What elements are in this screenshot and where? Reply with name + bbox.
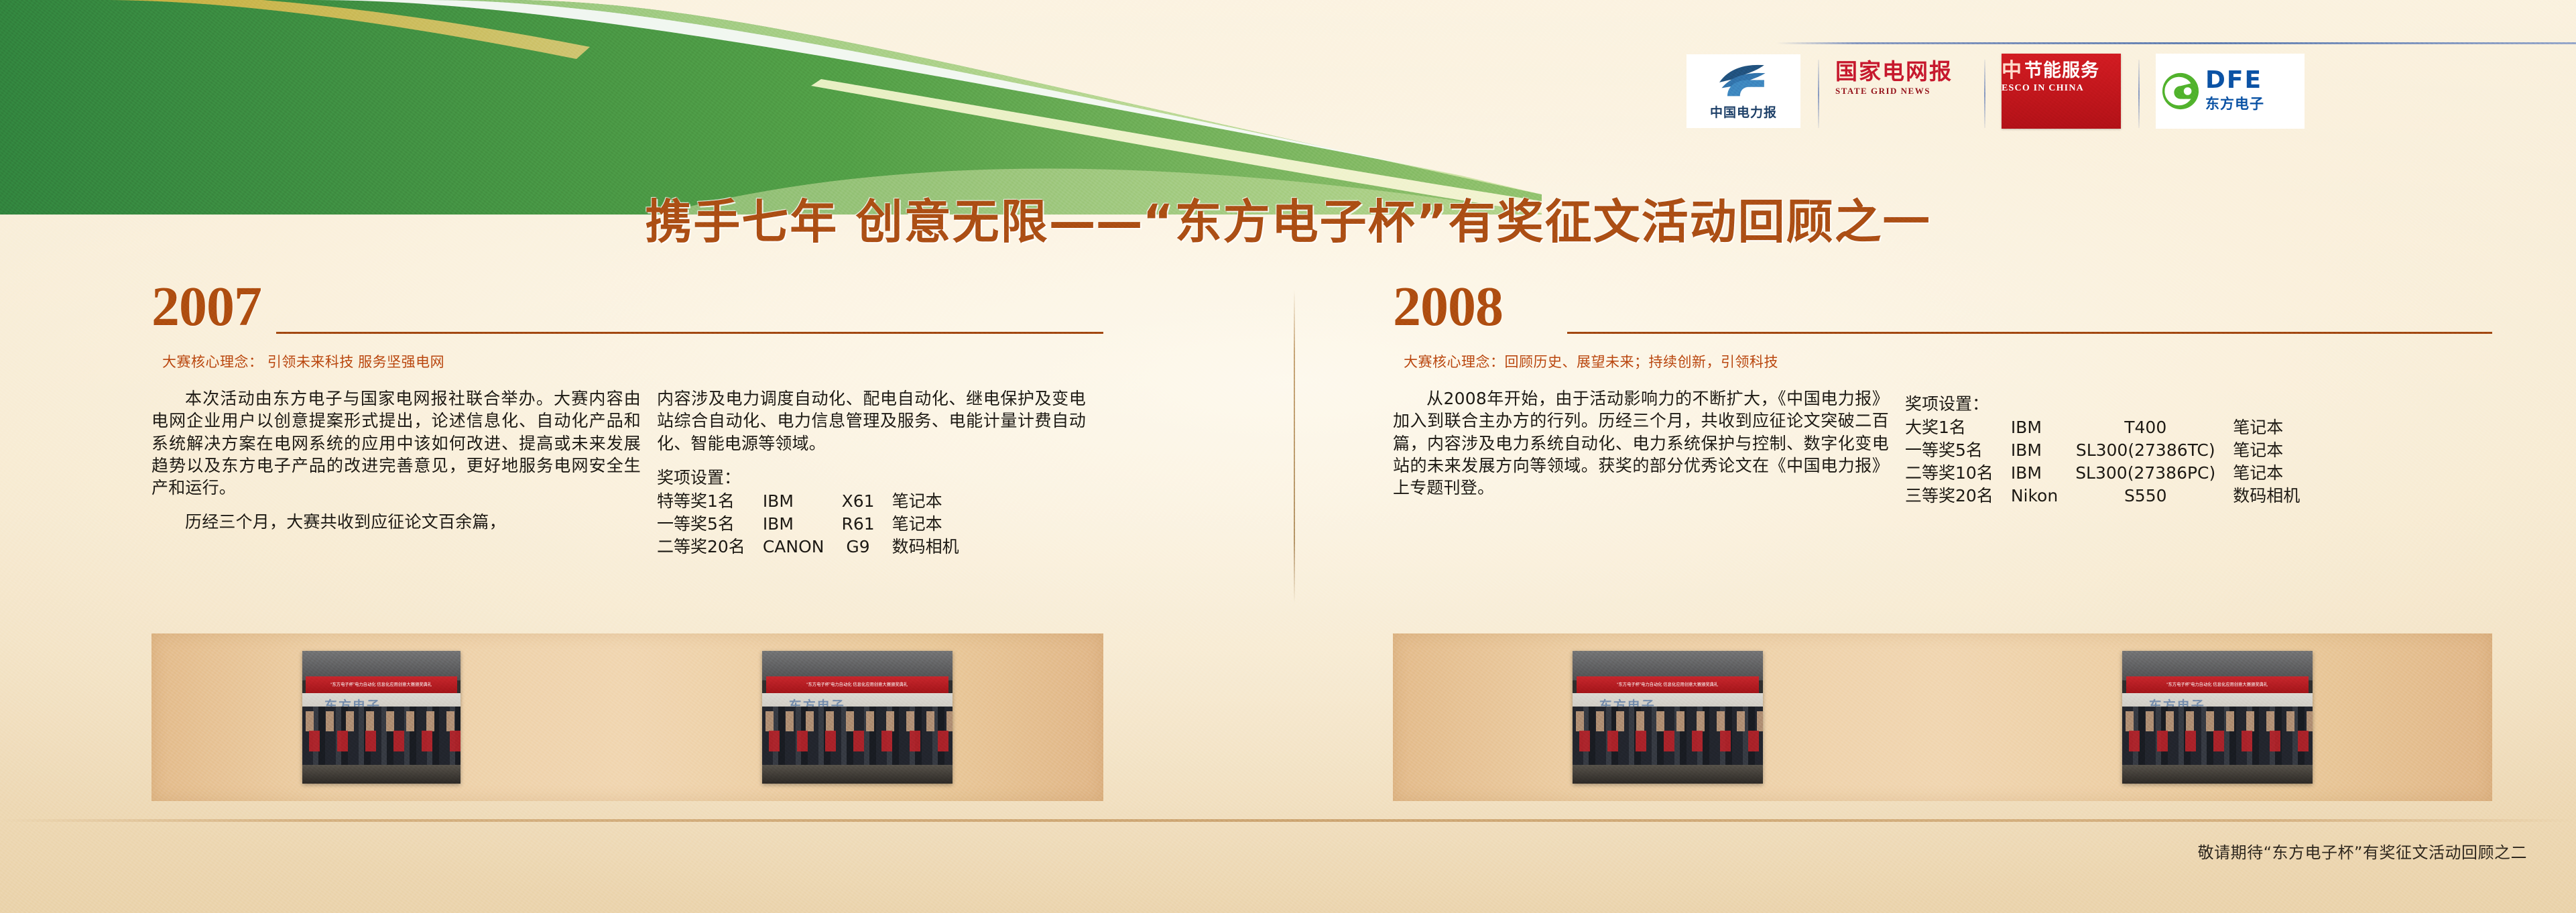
award-brand: Nikon <box>2011 485 2075 507</box>
award-brand: IBM <box>763 490 842 513</box>
award-item: 笔记本 <box>892 490 959 513</box>
dfe-circle-icon <box>2161 72 2200 111</box>
bottom-divider-rule <box>0 819 2576 822</box>
award-brand: CANON <box>763 536 842 558</box>
photo-banner-2007-2: “东方电子杯”电力自动化 信息化应用创意大赛颁奖典礼 <box>766 676 949 694</box>
year-rule-2007 <box>276 332 1103 334</box>
year-heading-2007: 2007 <box>151 284 1103 343</box>
award-brand: IBM <box>763 513 842 536</box>
header-divider-line <box>1776 42 2576 44</box>
photo-certificates <box>762 731 953 752</box>
motto-2007: 大赛核心理念： 引领未来科技 服务坚强电网 <box>162 351 1103 371</box>
paragraph-2007-1: 本次活动由东方电子与国家电网报社联合举办。大赛内容由电网企业用户以创意提案形式提… <box>151 387 641 499</box>
award-model: R61 <box>841 513 892 536</box>
photo-banner-text: “东方电子杯”电力自动化 信息化应用创意大赛颁奖典礼 <box>2167 682 2268 688</box>
table-row: 二等奖10名 IBM SL300(27386PC) 笔记本 <box>1905 462 2300 485</box>
table-row: 三等奖20名 Nikon S550 数码相机 <box>1905 485 2300 507</box>
photo-2008-1: “东方电子杯”电力自动化 信息化应用创意大赛颁奖典礼 东方电子 <box>1573 651 1763 784</box>
photo-strip-2007: “东方电子杯”电力自动化 信息化应用创意大赛颁奖典礼 东方电子 “东方电子杯”电… <box>151 633 1103 801</box>
photo-certificates <box>1573 731 1763 752</box>
table-row: 特等奖1名 IBM X61 笔记本 <box>657 490 959 513</box>
award-model: G9 <box>841 536 892 558</box>
award-level: 二等奖20名 <box>657 536 763 558</box>
photo-floor <box>1573 765 1763 784</box>
award-item: 笔记本 <box>2233 462 2300 485</box>
award-level: 一等奖5名 <box>1905 439 2011 462</box>
sgn-label-cn: 国家电网报 <box>1835 54 1967 86</box>
award-brand: IBM <box>2011 439 2075 462</box>
section-2007: 2007 大赛核心理念： 引领未来科技 服务坚强电网 本次活动由东方电子与国家电… <box>151 284 1103 558</box>
photo-floor <box>762 765 953 784</box>
award-model: X61 <box>841 490 892 513</box>
award-model: SL300(27386PC) <box>2075 462 2233 485</box>
table-row: 一等奖5名 IBM R61 笔记本 <box>657 513 959 536</box>
award-item: 数码相机 <box>892 536 959 558</box>
footer-note: 敬请期待“东方电子杯”有奖征文活动回顾之二 <box>0 839 2527 863</box>
awards-table-2007: 特等奖1名 IBM X61 笔记本 一等奖5名 IBM R61 笔记本 <box>657 490 959 558</box>
paragraph-2008-1: 从2008年开始，由于活动影响力的不断扩大，《中国电力报》加入到联合主办方的行列… <box>1393 387 1889 499</box>
award-model: SL300(27386TC) <box>2075 439 2233 462</box>
year-rule-2008 <box>1567 332 2492 334</box>
poster-title-part2: “东方电子杯”有奖征文活动回顾之一 <box>1143 198 1931 245</box>
logo-state-grid-news: 国家电网报 STATE GRID NEWS <box>1818 52 1984 131</box>
cepn-bird-icon <box>1715 62 1772 102</box>
award-level: 三等奖20名 <box>1905 485 2011 507</box>
esco-label-en: ESCO IN CHINA <box>2002 83 2121 94</box>
year-label-2007: 2007 <box>151 279 261 335</box>
photo-banner-text: “东方电子杯”电力自动化 信息化应用创意大赛颁奖典礼 <box>807 682 908 688</box>
table-row: 大奖1名 IBM T400 笔记本 <box>1905 416 2300 439</box>
dfe-label-cn: 东方电子 <box>2205 93 2264 113</box>
poster-title-part1: 携手七年 创意无限 <box>645 198 1048 245</box>
awards-2008: 奖项设置： 大奖1名 IBM T400 笔记本 一等奖5名 IBM SL300(… <box>1905 393 2461 507</box>
awards-header-2007: 奖项设置： <box>657 467 1086 489</box>
poster-title-dash: —— <box>1049 198 1143 245</box>
green-swoosh-decoration <box>0 0 1542 215</box>
award-level: 特等奖1名 <box>657 490 763 513</box>
award-level: 一等奖5名 <box>657 513 763 536</box>
photo-banner-2007-1: “东方电子杯”电力自动化 信息化应用创意大赛颁奖典礼 <box>306 676 458 694</box>
poster-title: 携手七年 创意无限 —— “东方电子杯”有奖征文活动回顾之一 <box>0 198 2576 245</box>
body-text-2007: 本次活动由东方电子与国家电网报社联合举办。大赛内容由电网企业用户以创意提案形式提… <box>151 387 641 558</box>
year-label-2008: 2008 <box>1393 279 1503 335</box>
paragraph-2007-2: 历经三个月，大赛共收到应征论文百余篇， <box>151 511 641 533</box>
photo-banner-text: “东方电子杯”电力自动化 信息化应用创意大赛颁奖典礼 <box>331 682 432 688</box>
logo-dongfang-electronics: DFE 东方电子 <box>2138 52 2322 131</box>
logo-china-electric-power-news: 中国电力报 <box>1669 52 1818 131</box>
awards-2007: 奖项设置： 特等奖1名 IBM X61 笔记本 一等奖5名 IBM R61 <box>657 467 1086 558</box>
photo-floor <box>2122 765 2313 784</box>
award-brand: IBM <box>2011 462 2075 485</box>
photo-2007-2: “东方电子杯”电力自动化 信息化应用创意大赛颁奖典礼 东方电子 <box>762 651 953 784</box>
logo-esco-in-china: 中 节能服务 ESCO IN CHINA <box>1984 52 2138 131</box>
photo-certificates <box>302 731 461 752</box>
photo-banner-text: “东方电子杯”电力自动化 信息化应用创意大赛颁奖典礼 <box>1617 682 1719 688</box>
award-model: T400 <box>2075 416 2233 439</box>
awards-header-2008: 奖项设置： <box>1905 393 2461 415</box>
award-item: 笔记本 <box>892 513 959 536</box>
cepn-label: 中国电力报 <box>1710 103 1777 121</box>
year-heading-2008: 2008 <box>1393 284 2492 343</box>
table-row: 二等奖20名 CANON G9 数码相机 <box>657 536 959 558</box>
photo-strip-2008: “东方电子杯”电力自动化 信息化应用创意大赛颁奖典礼 东方电子 “东方电子杯”电… <box>1393 633 2492 801</box>
photo-banner-2008-2: “东方电子杯”电力自动化 信息化应用创意大赛颁奖典礼 <box>2126 676 2309 694</box>
photo-2007-1: “东方电子杯”电力自动化 信息化应用创意大赛颁奖典礼 东方电子 <box>302 651 461 784</box>
table-row: 一等奖5名 IBM SL300(27386TC) 笔记本 <box>1905 439 2300 462</box>
photo-certificates <box>2122 731 2313 752</box>
side-paragraph-2007: 内容涉及电力调度自动化、配电自动化、继电保护及变电站综合自动化、电力信息管理及服… <box>657 387 1086 454</box>
award-item: 笔记本 <box>2233 416 2300 439</box>
body-text-2008: 从2008年开始，由于活动影响力的不断扩大，《中国电力报》加入到联合主办方的行列… <box>1393 387 1889 507</box>
partner-logo-bar: 中国电力报 国家电网报 STATE GRID NEWS 中 节能服务 ESCO … <box>1669 51 2514 131</box>
award-brand: IBM <box>2011 416 2075 439</box>
motto-2008: 大赛核心理念：回顾历史、展望未来；持续创新，引领科技 <box>1404 351 2492 371</box>
award-level: 二等奖10名 <box>1905 462 2011 485</box>
column-divider <box>1294 290 1295 603</box>
photo-banner-2008-1: “东方电子杯”电力自动化 信息化应用创意大赛颁奖典礼 <box>1577 676 1760 694</box>
award-model: S550 <box>2075 485 2233 507</box>
photo-floor <box>302 765 461 784</box>
esco-label-cn: 节能服务 <box>2024 56 2099 82</box>
awards-table-2008: 大奖1名 IBM T400 笔记本 一等奖5名 IBM SL300(27386T… <box>1905 416 2300 507</box>
esco-seal-glyph: 中 <box>2002 54 2022 83</box>
section-2008: 2008 大赛核心理念：回顾历史、展望未来；持续创新，引领科技 从2008年开始… <box>1393 284 2492 507</box>
award-level: 大奖1名 <box>1905 416 2011 439</box>
award-item: 笔记本 <box>2233 439 2300 462</box>
side-column-2007: 内容涉及电力调度自动化、配电自动化、继电保护及变电站综合自动化、电力信息管理及服… <box>657 387 1086 558</box>
photo-2008-2: “东方电子杯”电力自动化 信息化应用创意大赛颁奖典礼 东方电子 <box>2122 651 2313 784</box>
sgn-label-en: STATE GRID NEWS <box>1835 86 1967 97</box>
side-column-2008: 奖项设置： 大奖1名 IBM T400 笔记本 一等奖5名 IBM SL300(… <box>1905 387 2461 507</box>
award-item: 数码相机 <box>2233 485 2300 507</box>
poster-page: 中国电力报 国家电网报 STATE GRID NEWS 中 节能服务 ESCO … <box>0 0 2576 913</box>
dfe-abbr: DFE <box>2205 69 2262 92</box>
